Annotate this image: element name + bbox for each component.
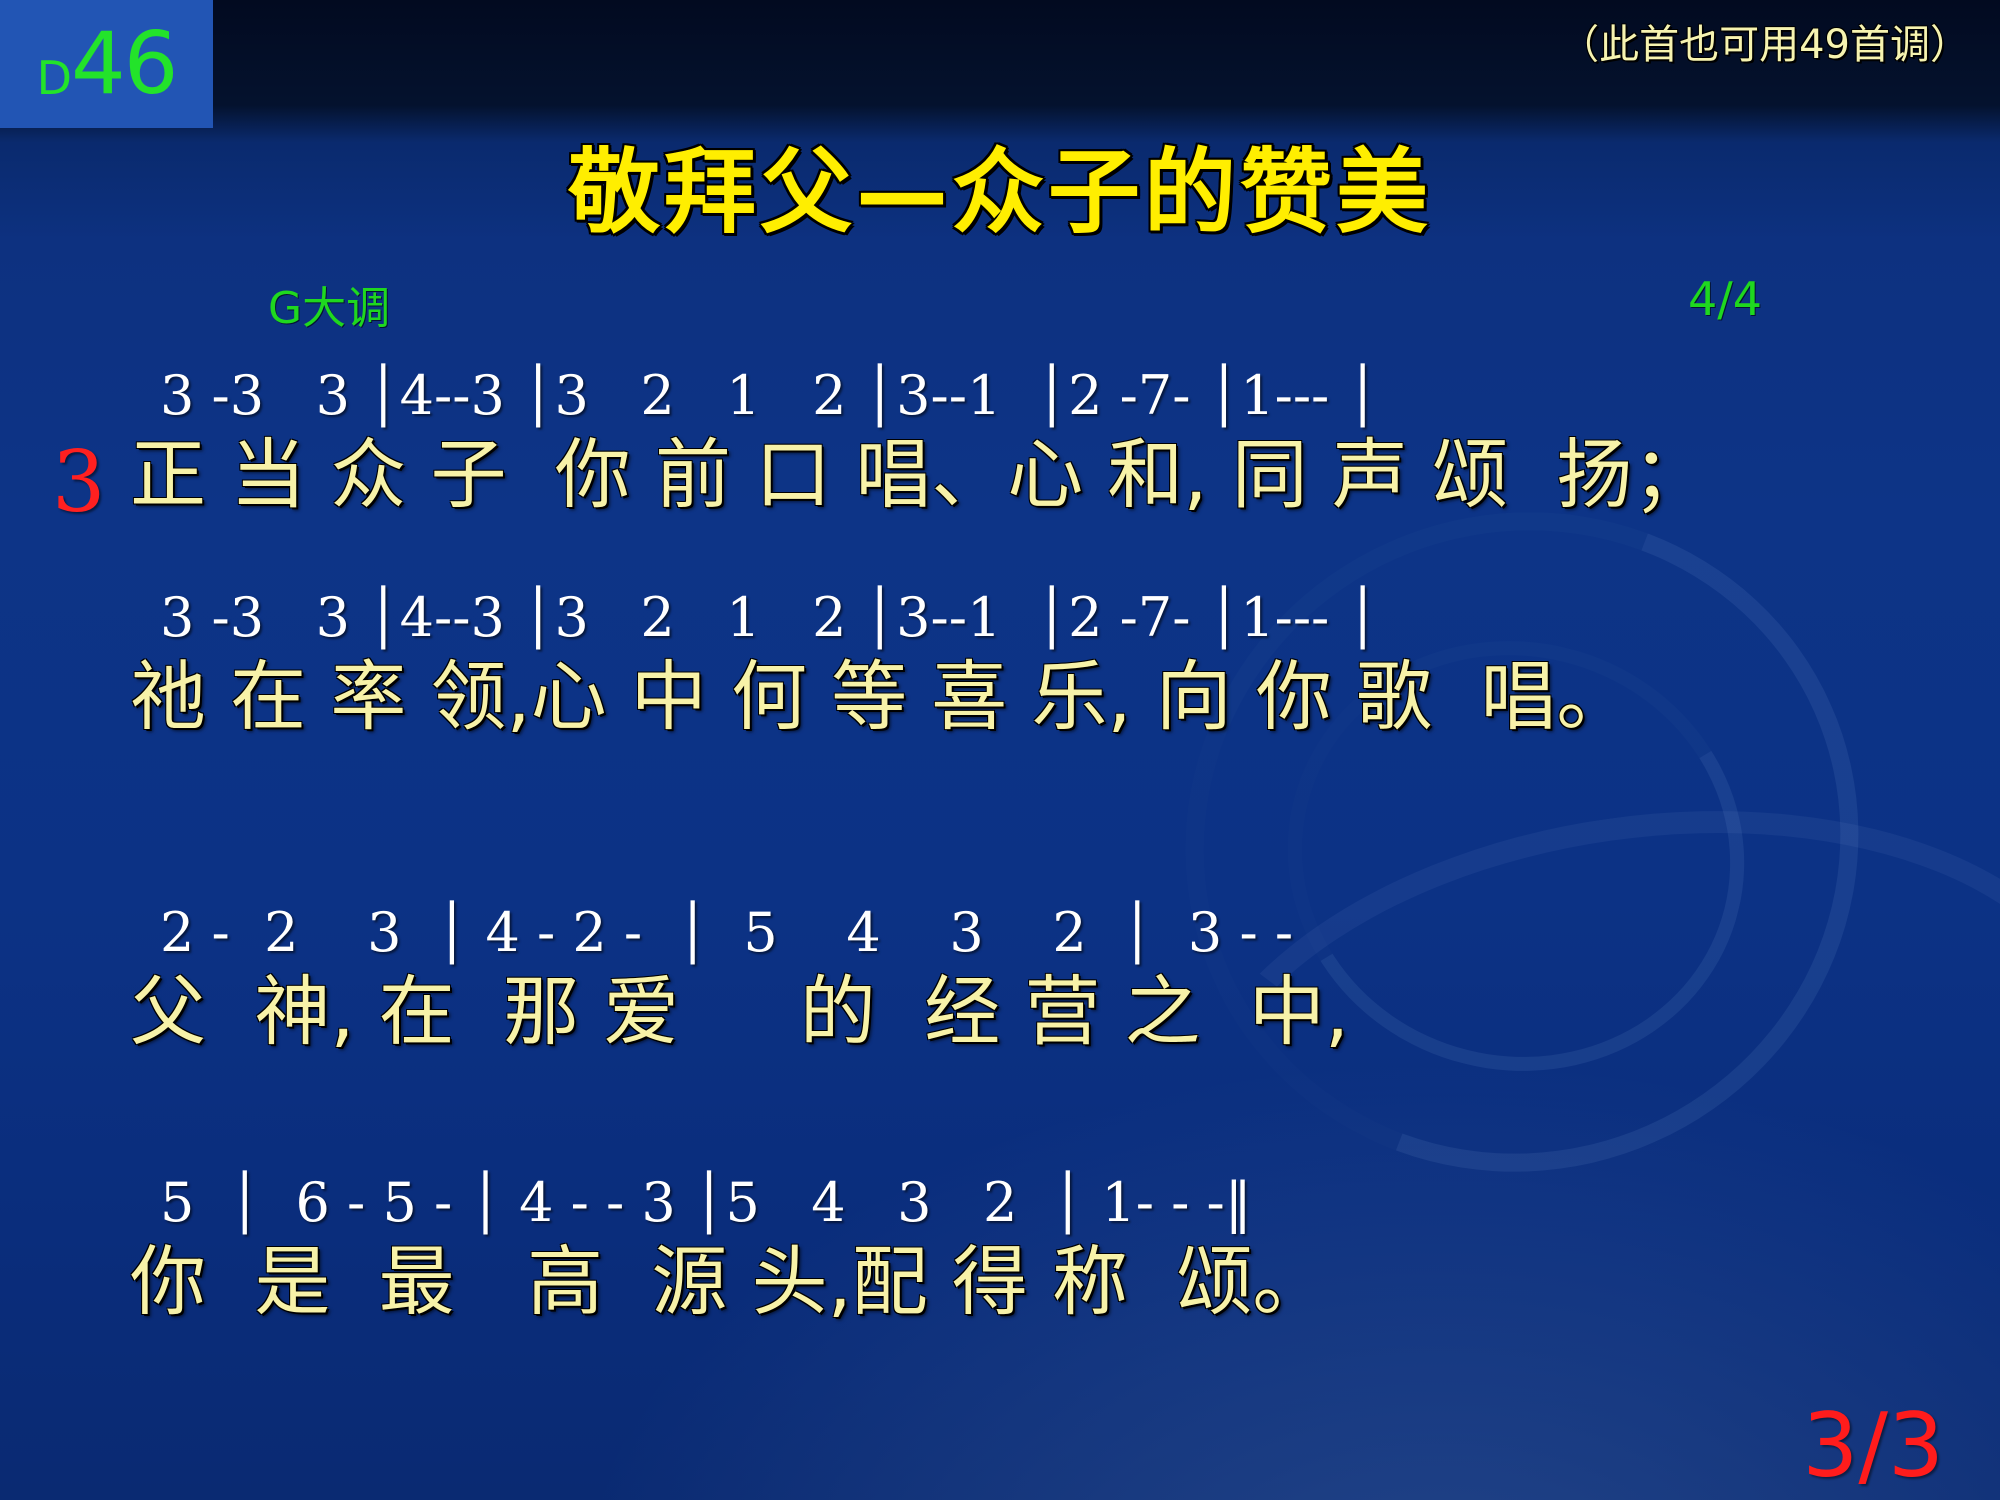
slide-canvas: D46 （此首也可用49首调） 敬拜父—众子的赞美 G大调 4/4 3 3 -3…	[0, 0, 2000, 1500]
page-title: 敬拜父—众子的赞美	[0, 118, 2000, 251]
hymn-number-prefix: D	[37, 55, 71, 101]
lyrics-line-2: 祂 在 率 领,心 中 何 等 喜 乐, 向 你 歌 唱。	[0, 652, 2000, 742]
notation-line-2: 3 -3 3 │4--3 │3 2 1 2 │3--1 │2 -7- │1---…	[0, 590, 2000, 652]
lyrics-line-4: 你 是 最 高 源 头,配 得 称 颂。	[0, 1237, 2000, 1327]
key-signature-label: G大调	[268, 272, 390, 336]
decorative-swirl	[1141, 753, 2000, 1443]
lyrics-line-1: 正 当 众 子 你 前 口 唱、心 和, 同 声 颂 扬；	[0, 430, 2000, 520]
music-system-2: 3 -3 3 │4--3 │3 2 1 2 │3--1 │2 -7- │1---…	[0, 590, 2000, 742]
lyrics-line-3: 父 神, 在 那 爱 的 经 营 之 中,	[0, 967, 2000, 1057]
music-system-1: 3 -3 3 │4--3 │3 2 1 2 │3--1 │2 -7- │1---…	[0, 368, 2000, 520]
time-signature-label: 4/4	[1688, 272, 1762, 326]
music-system-4: 5 │ 6 - 5 - │ 4 - - 3 │5 4 3 2 │ 1- - -‖…	[0, 1175, 2000, 1327]
notation-line-1: 3 -3 3 │4--3 │3 2 1 2 │3--1 │2 -7- │1---…	[0, 368, 2000, 430]
hymn-number-value: 46	[71, 21, 176, 107]
music-system-3: 2 - 2 3 │ 4 - 2 - │ 5 4 3 2 │ 3 - - 父 神,…	[0, 905, 2000, 1057]
decorative-swirl	[1080, 405, 1964, 1279]
alternate-tune-note: （此首也可用49首调）	[1559, 12, 1970, 70]
notation-line-3: 2 - 2 3 │ 4 - 2 - │ 5 4 3 2 │ 3 - -	[0, 905, 2000, 967]
hymn-number-badge: D46	[0, 0, 213, 128]
notation-line-4: 5 │ 6 - 5 - │ 4 - - 3 │5 4 3 2 │ 1- - -‖	[0, 1175, 2000, 1237]
page-indicator: 3/3	[1802, 1402, 1944, 1490]
